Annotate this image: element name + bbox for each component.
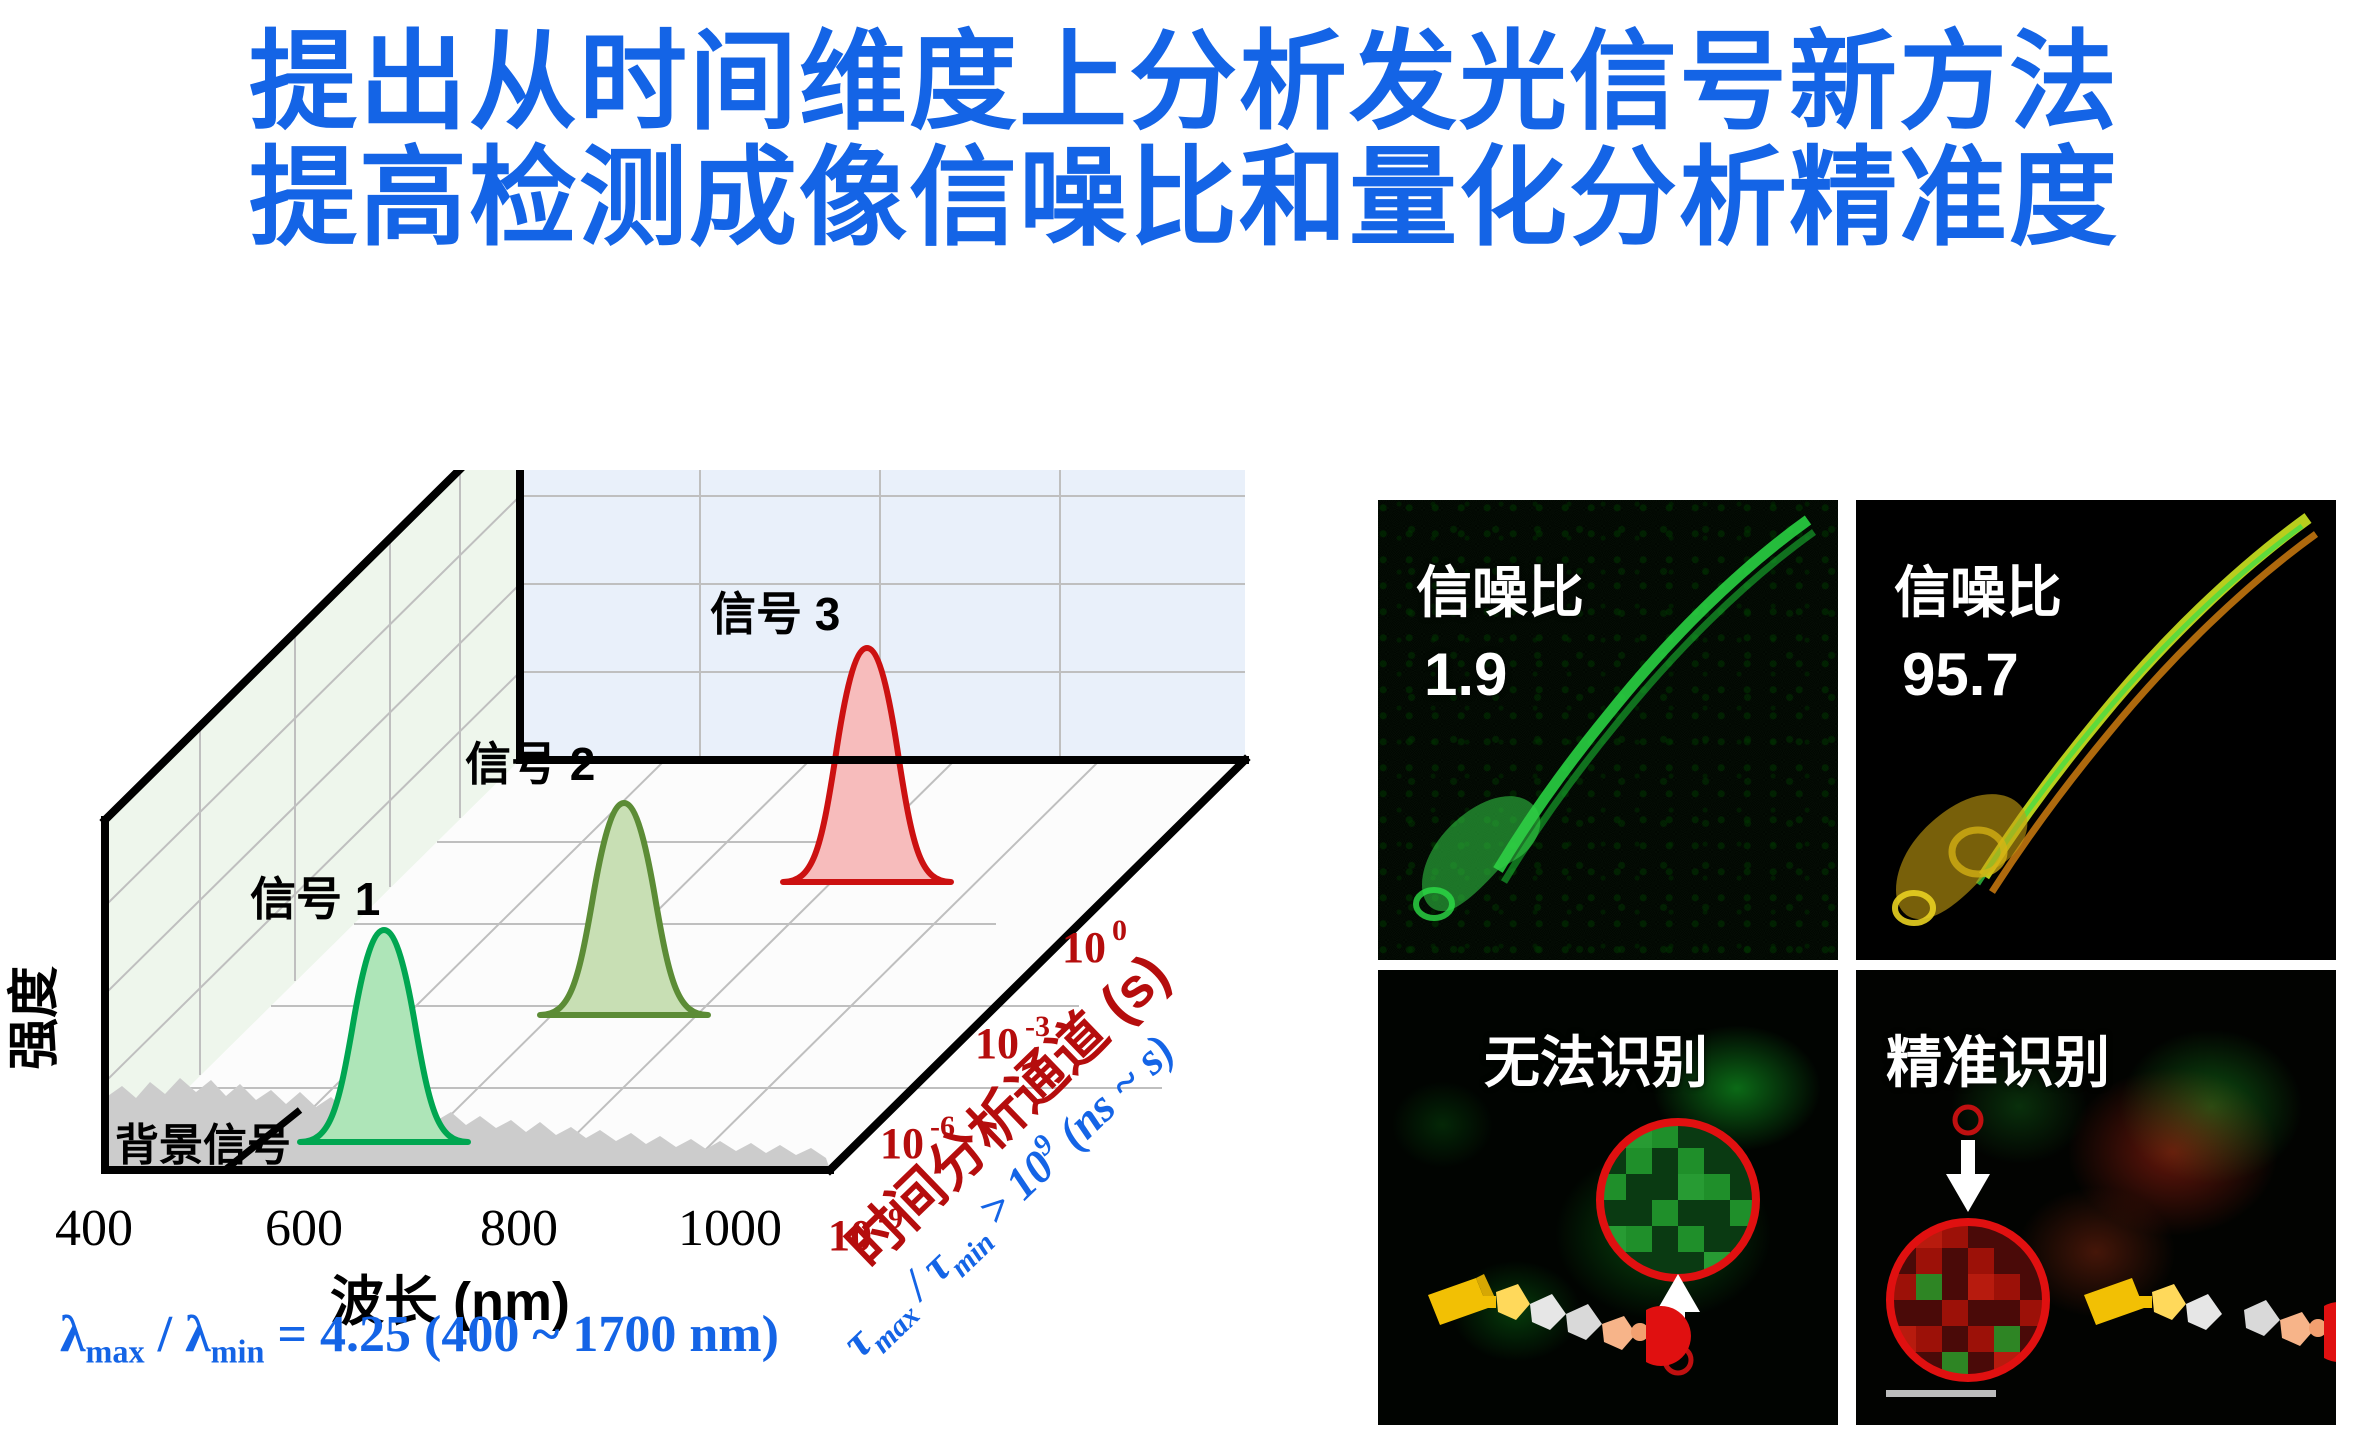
x-tick-400: 400 (55, 1200, 133, 1257)
molecular-probe-fragment-icon (2244, 1300, 2336, 1362)
lambda-ratio-formula: λmax / λmin = 4.25 (400 ~ 1700 nm) (60, 1305, 779, 1370)
panel-snr-high[interactable]: 信噪比 95.7 (1856, 500, 2336, 960)
molecular-probe-icon (2084, 1278, 2222, 1330)
chart-svg: 信号 1 信号 2 信号 3 背景信号 强度 400 600 800 1000 … (0, 470, 1360, 1440)
spectral-time-chart: 信号 1 信号 2 信号 3 背景信号 强度 400 600 800 1000 … (0, 470, 1360, 1440)
magnified-inset-red (1890, 1222, 2046, 1378)
lambda-sub-min: min (211, 1333, 265, 1369)
lambda-value: = 4.25 (400 ~ 1700 nm) (264, 1306, 779, 1363)
y-axis-label: 强度 (6, 966, 64, 1070)
svg-text:0: 0 (1112, 914, 1127, 947)
lambda-slash: / (145, 1306, 185, 1363)
panel-recognition-fail[interactable]: 无法识别 (1378, 970, 1838, 1425)
x-tick-800: 800 (480, 1200, 558, 1257)
scale-bar (1886, 1390, 1996, 1397)
x-tick-600: 600 (265, 1200, 343, 1257)
snr-label: 信噪比 (1416, 548, 1584, 629)
signal-3-label: 信号 3 (710, 588, 840, 640)
x-tick-1000: 1000 (678, 1200, 782, 1257)
recognition-label: 无法识别 (1484, 1018, 1708, 1099)
recognition-label: 精准识别 (1886, 1018, 2110, 1099)
zoom-arrow (1946, 1140, 1990, 1212)
snr-label: 信噪比 (1894, 548, 2062, 629)
title-line-2: 提高检测成像信噪比和量化分析精准度 (0, 140, 2368, 256)
signal-1-label: 信号 1 (250, 873, 380, 925)
svg-text:10: 10 (1062, 923, 1106, 972)
magnified-inset-green (1600, 1122, 1756, 1278)
microscopy-panel-grid: 信噪比 1.9 信噪比 95.7 (1378, 500, 2353, 1440)
snr-value: 1.9 (1424, 640, 1507, 709)
panel-recognition-ok[interactable]: 精准识别 (1856, 970, 2336, 1425)
lambda-symbol-min: λ (185, 1306, 211, 1363)
signal-2-label: 信号 2 (465, 738, 595, 790)
panel-snr-low[interactable]: 信噪比 1.9 (1378, 500, 1838, 960)
background-signal-label: 背景信号 (115, 1121, 291, 1170)
snr-value: 95.7 (1902, 640, 2019, 709)
lambda-sub-max: max (86, 1333, 145, 1369)
title-line-1: 提出从时间维度上分析发光信号新方法 (0, 24, 2368, 140)
lambda-symbol-max: λ (60, 1306, 86, 1363)
roi-marker-circle (1955, 1107, 1981, 1133)
molecular-probe-icon (1428, 1274, 1691, 1366)
slide-title: 提出从时间维度上分析发光信号新方法 提高检测成像信噪比和量化分析精准度 (0, 24, 2368, 256)
